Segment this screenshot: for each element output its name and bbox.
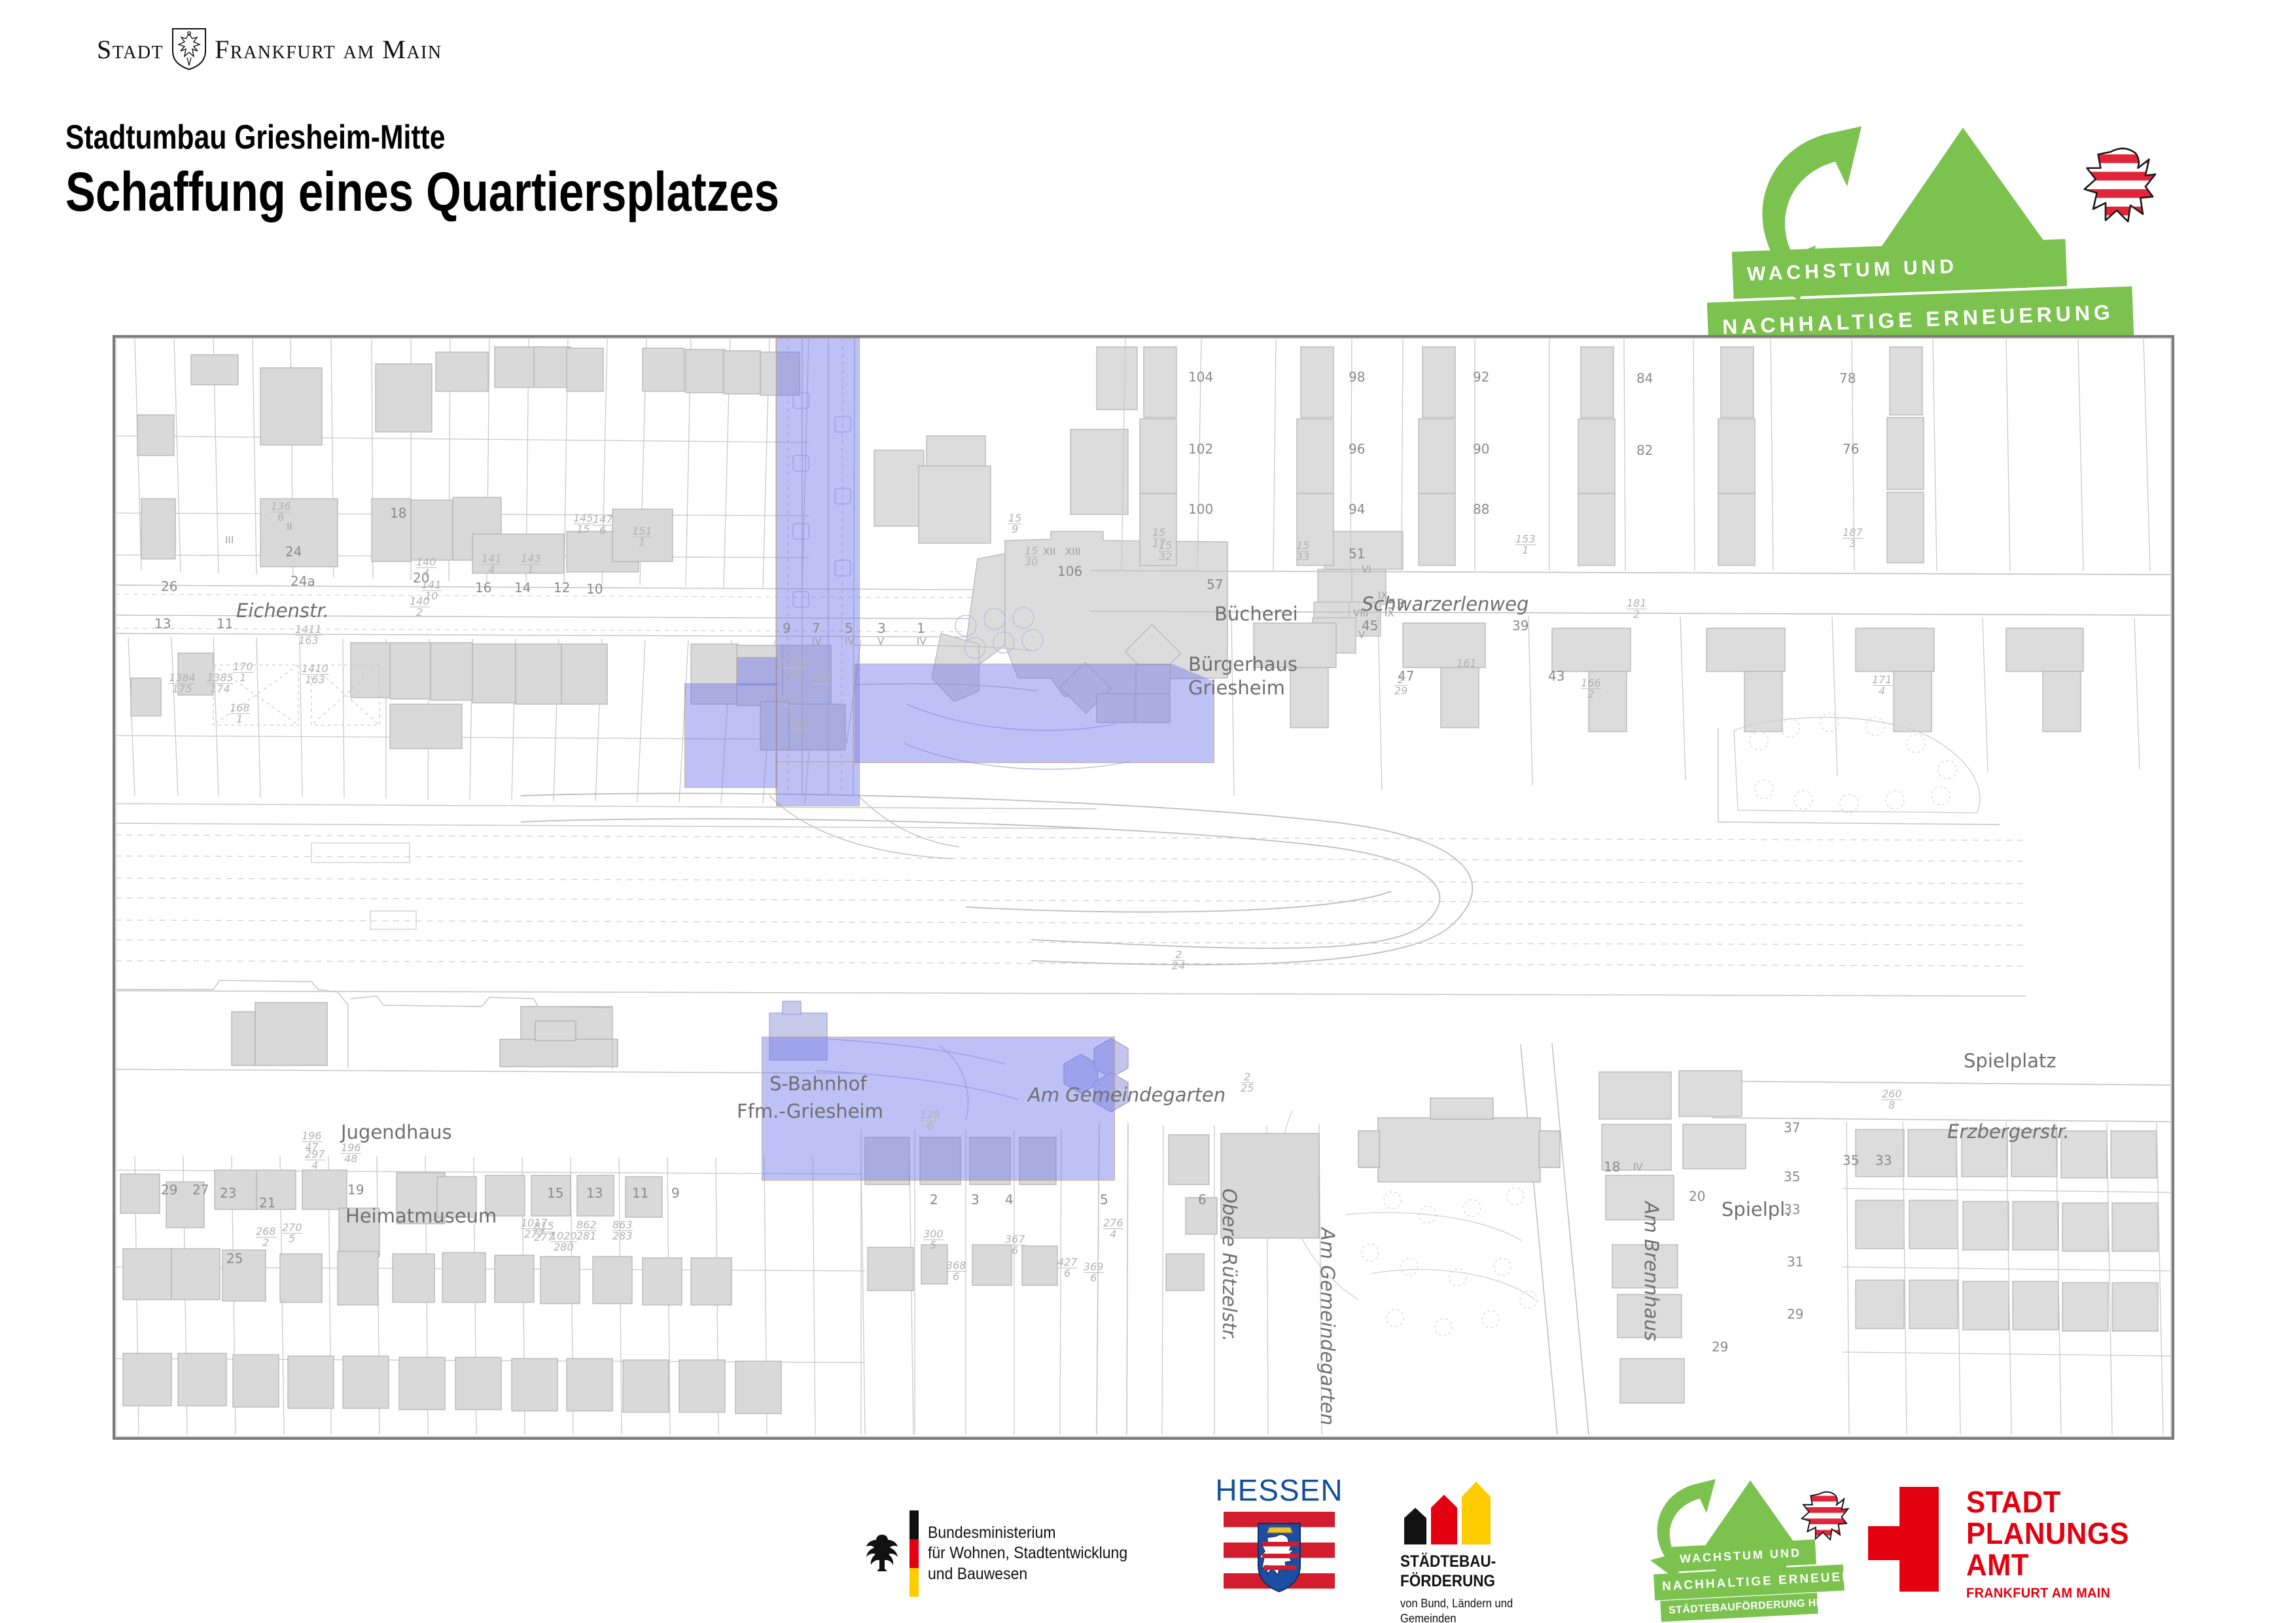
house-number-label: 26 (161, 579, 177, 594)
parcel-number-label: 224 (1172, 950, 1185, 971)
parcel-denominator: 1 (233, 673, 253, 683)
parcel-number-label: 863283 (612, 1220, 633, 1241)
house-number-label: 2 (930, 1192, 938, 1207)
parcel-number-label: 225 (1241, 1072, 1254, 1094)
place-label: Heimatmuseum (345, 1205, 497, 1227)
stadtplanungsamt-logo: STADT PLANUNGS AMT FRANKFURT AM MAIN (1862, 1472, 2202, 1623)
street-label: Erzbergerstr. (1947, 1120, 2070, 1143)
parcel-denominator: 15 (573, 524, 593, 535)
frankfurt-eagle-crest-icon (170, 27, 208, 71)
spa-line2: PLANUNGS (1966, 1518, 2129, 1550)
house-number-label: 88 (1473, 501, 1489, 517)
house-number-label: 76 (1843, 441, 1859, 457)
parcel-number-label: 161 (1457, 658, 1477, 669)
building-floors-label: V (1358, 629, 1365, 641)
german-flag-bar-icon (910, 1510, 919, 1597)
parcel-number-label: 1248158 (779, 657, 806, 679)
funding-logos-footer: Bundesministerium für Wohnen, Stadtentwi… (0, 1472, 2296, 1623)
house-number-label: 9 (671, 1185, 680, 1201)
house-number-label: 11 (632, 1185, 648, 1201)
house-number-label: 102 (1188, 441, 1213, 457)
parcel-denominator: 4 (482, 565, 502, 575)
house-number-label: 9 (783, 620, 791, 636)
parcel-denominator: 2 (779, 705, 800, 716)
bmwsb-line2: für Wohnen, Stadtentwicklung (928, 1543, 1127, 1563)
hessen-flag-icon (1224, 1512, 1335, 1603)
spa-subtitle: FRANKFURT AM MAIN (1966, 1586, 2129, 1601)
parcel-denominator: 4 (305, 1160, 325, 1171)
parcel-number-label: 1511 (632, 526, 652, 548)
parcel-number-label: 1873 (1843, 527, 1863, 549)
bmwsb-line1: Bundesministerium (928, 1523, 1127, 1543)
parcel-denominator: 32 (1159, 552, 1172, 562)
parcel-denominator: 30 (1025, 557, 1038, 567)
house-number-label: 6 (1198, 1192, 1207, 1207)
place-label: Ffm.-Griesheim (737, 1100, 883, 1122)
poster-subtitle: Stadtumbau Griesheim-Mitte (65, 118, 445, 157)
house-number-label: 3 (877, 620, 886, 636)
house-number-label: 18 (390, 505, 406, 521)
parcel-number-label: 14515 (573, 513, 593, 535)
staedtebau-title: STÄDTEBAU- FÖRDERUNG (1400, 1552, 1547, 1591)
parcel-number-label: 1017277 (521, 1218, 548, 1240)
parcel-denominator: 3 (1843, 539, 1863, 549)
parcel-number-label: 1531 (1515, 534, 1536, 556)
parcel-number-label: 4276 (1057, 1257, 1078, 1279)
building-floors-label: XIII (1065, 546, 1081, 558)
parcel-number-label: 862281 (576, 1220, 597, 1241)
parcel-denominator: 158 (779, 668, 806, 679)
staedtebau-sub2: Gemeinden (1400, 1611, 1551, 1623)
house-number-label: 100 (1188, 501, 1213, 517)
building-floors-label: IV (917, 635, 927, 647)
parcel-number-label: 1533 (1296, 541, 1309, 562)
parcel-denominator: 174 (207, 684, 234, 694)
house-black-icon (1404, 1508, 1426, 1544)
building-floors-label: III (225, 534, 234, 546)
parcel-denominator: 1 (521, 565, 541, 575)
parcel-denominator: 280 (550, 1242, 577, 1253)
house-number-label: 24a (291, 573, 315, 589)
poster-root: Stadt Frankfurt am Main Stadtumbau Gries… (0, 0, 2296, 1623)
parcel-denominator: 6 (271, 512, 291, 523)
house-number-label: 7 (812, 620, 821, 636)
parcel-denominator: 29 (1394, 686, 1407, 696)
place-label: Griesheim (1188, 677, 1285, 699)
parcel-denominator: 2 (1627, 609, 1647, 620)
house-number-label: 82 (1636, 442, 1653, 458)
hessen-lion-shield-icon (1256, 1520, 1303, 1593)
staedtebau-subtitle: von Bund, Ländern und Gemeinden (1400, 1596, 1551, 1623)
parcel-denominator: 175 (169, 684, 196, 694)
parcel-denominator: 1 (230, 714, 250, 724)
house-number-label: 13 (154, 616, 171, 632)
house-number-label: 4 (1005, 1192, 1014, 1207)
parcel-denominator: 6 (1005, 1245, 1025, 1256)
parcel-number-label: 1414 (482, 554, 502, 575)
staedtebau-sub1: von Bund, Ländern und (1400, 1596, 1551, 1611)
parcel-denominator: 6 (946, 1272, 966, 1282)
house-number-label: 104 (1188, 369, 1213, 385)
parcel-denominator: 6 (1084, 1273, 1104, 1283)
street-label: Am Brennhaus (1640, 1202, 1663, 1341)
street-label: Am Gemeindegarten (1316, 1228, 1339, 1425)
house-number-label: 5 (1100, 1192, 1108, 1207)
parcel-number-label: 3696 (1084, 1262, 1104, 1283)
spa-line3: AMT (1966, 1550, 2129, 1581)
house-number-label: 37 (1784, 1120, 1800, 1135)
house-number-label: 78 (1839, 370, 1856, 386)
parcel-denominator: 4 (416, 568, 436, 579)
house-number-label: 13 (586, 1185, 603, 1201)
parcel-number-label: 1812 (1627, 598, 1647, 620)
cadastral-map[interactable]: Eichenstr.SchwarzerlenwegAm Gemeindegart… (113, 335, 2174, 1440)
parcel-denominator: 2 (410, 607, 430, 618)
house-number-label: 18 (1604, 1159, 1620, 1175)
street-label: Obere Rützelstr. (1218, 1188, 1241, 1342)
parcel-number-label: 2974 (305, 1149, 325, 1171)
three-houses-icon (1404, 1482, 1564, 1544)
building-floors-label: IV (845, 635, 855, 647)
parcel-number-label: 229 (1394, 675, 1407, 696)
building-floors-label: IV (812, 635, 822, 647)
project-area-highlight-lower-block (776, 762, 860, 806)
stadtplanungsamt-text: STADT PLANUNGS AMT FRANKFURT AM MAIN (1966, 1487, 2138, 1623)
house-red-icon (1431, 1495, 1457, 1544)
house-number-label: 24 (285, 544, 302, 560)
place-label: Spielpl. (1722, 1198, 1791, 1221)
house-number-label: 84 (1636, 370, 1653, 386)
parcel-number-label: 1582 (789, 719, 809, 740)
parcel-number-label: 1384175 (169, 673, 196, 694)
bmwsb-logo: Bundesministerium für Wohnen, Stadtentwi… (864, 1472, 1171, 1623)
parcel-numerator: 161 (1457, 658, 1477, 669)
house-number-label: 19 (347, 1182, 364, 1198)
parcel-denominator: 277 (521, 1229, 548, 1240)
hessen-wordmark: HESSEN (1214, 1472, 1345, 1508)
staedtebau-line1: STÄDTEBAU- (1400, 1552, 1547, 1572)
house-number-label: 25 (226, 1251, 243, 1266)
building-floors-label: VI (1362, 563, 1371, 575)
house-number-label: 90 (1473, 441, 1489, 457)
parcel-denominator: 163 (302, 675, 328, 685)
project-area-highlight-east-arm (855, 664, 1214, 763)
parcel-number-label: 1532 (1159, 541, 1172, 562)
place-label: Jugendhaus (341, 1121, 452, 1143)
parcel-denominator: 6 (593, 526, 613, 536)
parcel-number-label: 3005 (923, 1229, 944, 1251)
parcel-number-label: 3686 (946, 1260, 966, 1282)
house-number-label: 96 (1349, 441, 1365, 457)
project-area-highlight-west-spur-2 (737, 657, 777, 686)
staedtebaufoerderung-logo: STÄDTEBAU- FÖRDERUNG von Bund, Ländern u… (1400, 1472, 1564, 1623)
place-label: Bürgerhaus (1188, 653, 1298, 675)
house-number-label: 51 (1349, 546, 1365, 562)
house-yellow-icon (1462, 1482, 1491, 1544)
parcel-denominator: 1 (1515, 545, 1536, 556)
parcel-number-label: 1402 (410, 596, 430, 618)
building-floors-label: IX (1378, 590, 1388, 601)
house-number-label: 33 (1875, 1152, 1892, 1168)
parcel-number-label: 1411163 (295, 624, 322, 646)
parcel-number-label: 1366 (271, 501, 291, 523)
city-of-frankfurt-logo: Stadt Frankfurt am Main (97, 26, 516, 72)
parcel-denominator: 4 (1103, 1229, 1123, 1240)
city-logo-text-right: Frankfurt am Main (215, 34, 442, 65)
parcel-number-label: 1681 (230, 703, 250, 724)
parcel-denominator: 6 (920, 1121, 940, 1132)
place-label: Spielplatz (1964, 1050, 2057, 1072)
parcel-number-label: 19648 (341, 1143, 361, 1164)
house-number-label: 29 (161, 1182, 177, 1198)
building-floors-label: IV (1633, 1161, 1643, 1173)
parcel-denominator: 24 (1172, 961, 1185, 971)
parcel-denominator: 9 (1008, 524, 1021, 535)
street-label: Eichenstr. (236, 599, 329, 622)
wachstum-logo-footer: WACHSTUM UND NACHHALTIGE ERNEUERUNG STÄD… (1610, 1472, 1871, 1623)
house-number-label: 10 (586, 581, 603, 597)
parcel-denominator: 281 (576, 1231, 597, 1241)
building-floors-label: VIII (1353, 607, 1369, 619)
city-logo-text-left: Stadt (97, 34, 164, 65)
parcel-number-label: 1410163 (302, 664, 328, 685)
house-number-label: 20 (1689, 1188, 1705, 1204)
house-number-label: 106 (1057, 563, 1082, 579)
parcel-number-label: 1662 (1581, 678, 1601, 700)
house-number-label: 15 (547, 1185, 563, 1201)
stadtplanungsamt-mark-icon (1862, 1487, 1947, 1592)
parcel-denominator: 8 (1882, 1100, 1902, 1111)
parcel-number-label: 1592 (779, 694, 800, 716)
house-number-label: 35 (1784, 1169, 1800, 1185)
house-number-label: 29 (1712, 1339, 1728, 1355)
parcel-denominator: 4 (1872, 686, 1892, 696)
parcel-number-label: 1714 (1872, 675, 1892, 696)
parcel-denominator: 2 (256, 1238, 276, 1248)
parcel-denominator: 5 (923, 1240, 944, 1251)
house-number-label: 33 (1784, 1202, 1800, 1217)
parcel-denominator: 283 (612, 1231, 633, 1241)
parcel-number-label: 1431 (521, 554, 541, 575)
staedtebau-line2: FÖRDERUNG (1400, 1572, 1547, 1592)
house-number-label: 3 (971, 1192, 980, 1207)
parcel-number-label: 1286 (920, 1110, 940, 1132)
building-floors-label: IX (1385, 607, 1394, 619)
parcel-denominator: 6 (1057, 1268, 1078, 1279)
street-label: Am Gemeindegarten (1028, 1084, 1226, 1106)
house-number-label: 57 (1207, 577, 1223, 592)
parcel-denominator: 163 (295, 635, 322, 646)
parcel-number-label: 3676 (1005, 1234, 1025, 1256)
parcel-number-label: 1530 (1025, 546, 1038, 567)
place-label: Bücherei (1214, 603, 1298, 625)
house-number-label: 21 (259, 1195, 275, 1211)
house-number-label: 23 (220, 1185, 236, 1201)
place-label: S-Bahnhof (769, 1073, 867, 1095)
bmwsb-name: Bundesministerium für Wohnen, Stadtentwi… (928, 1523, 1127, 1584)
parcel-number-label: 159 (1008, 513, 1021, 535)
parcel-denominator: 33 (1296, 552, 1309, 562)
house-number-label: 16 (475, 580, 491, 596)
building-floors-label: V (877, 635, 884, 647)
house-number-label: 14 (514, 580, 531, 596)
hessen-state-logo: HESSEN (1214, 1472, 1345, 1623)
spa-line1: STADT (1966, 1487, 2129, 1518)
parcel-denominator: 25 (1241, 1083, 1254, 1094)
house-number-label: 31 (1787, 1254, 1803, 1270)
parcel-number-label: 1701 (233, 662, 253, 683)
house-number-label: 27 (192, 1182, 209, 1198)
house-number-label: 12 (554, 580, 570, 596)
house-number-label: 5 (845, 620, 853, 636)
parcel-denominator: 5 (282, 1234, 302, 1244)
parcel-number-label: 1584 (810, 673, 830, 694)
parcel-number-label: 1385174 (207, 673, 234, 694)
project-area-highlight-west-spur (684, 683, 777, 788)
house-number-label: 39 (1512, 618, 1528, 633)
house-number-label: 92 (1473, 369, 1489, 385)
parcel-denominator: 4 (810, 684, 830, 694)
parcel-number-label: 1476 (593, 514, 613, 536)
parcel-denominator: 48 (341, 1154, 361, 1164)
parcel-number-label: 2705 (282, 1222, 302, 1244)
bmwsb-line3: und Bauwesen (928, 1564, 1127, 1584)
parcel-denominator: 2 (789, 730, 809, 740)
parcel-number-label: 2682 (256, 1226, 276, 1248)
building-floors-label: XII (1043, 546, 1055, 558)
house-number-label: 11 (217, 616, 233, 632)
house-number-label: 94 (1349, 501, 1365, 517)
house-number-label: 43 (1548, 668, 1564, 684)
house-number-label: 1 (917, 620, 925, 636)
parcel-number-label: 1020280 (550, 1231, 577, 1253)
poster-title: Schaffung eines Quartiersplatzes (65, 160, 779, 224)
house-number-label: 29 (1787, 1306, 1803, 1322)
house-number-label: 98 (1349, 369, 1365, 385)
map-vector-layer (115, 338, 2172, 1437)
parcel-denominator: 2 (1581, 689, 1601, 700)
house-number-label: 35 (1843, 1152, 1859, 1168)
parcel-number-label: 2764 (1103, 1218, 1123, 1240)
parcel-number-label: 1404 (416, 557, 436, 579)
parcel-denominator: 1 (632, 537, 652, 548)
bundesadler-icon (864, 1532, 900, 1575)
parcel-number-label: 2608 (1882, 1089, 1902, 1111)
